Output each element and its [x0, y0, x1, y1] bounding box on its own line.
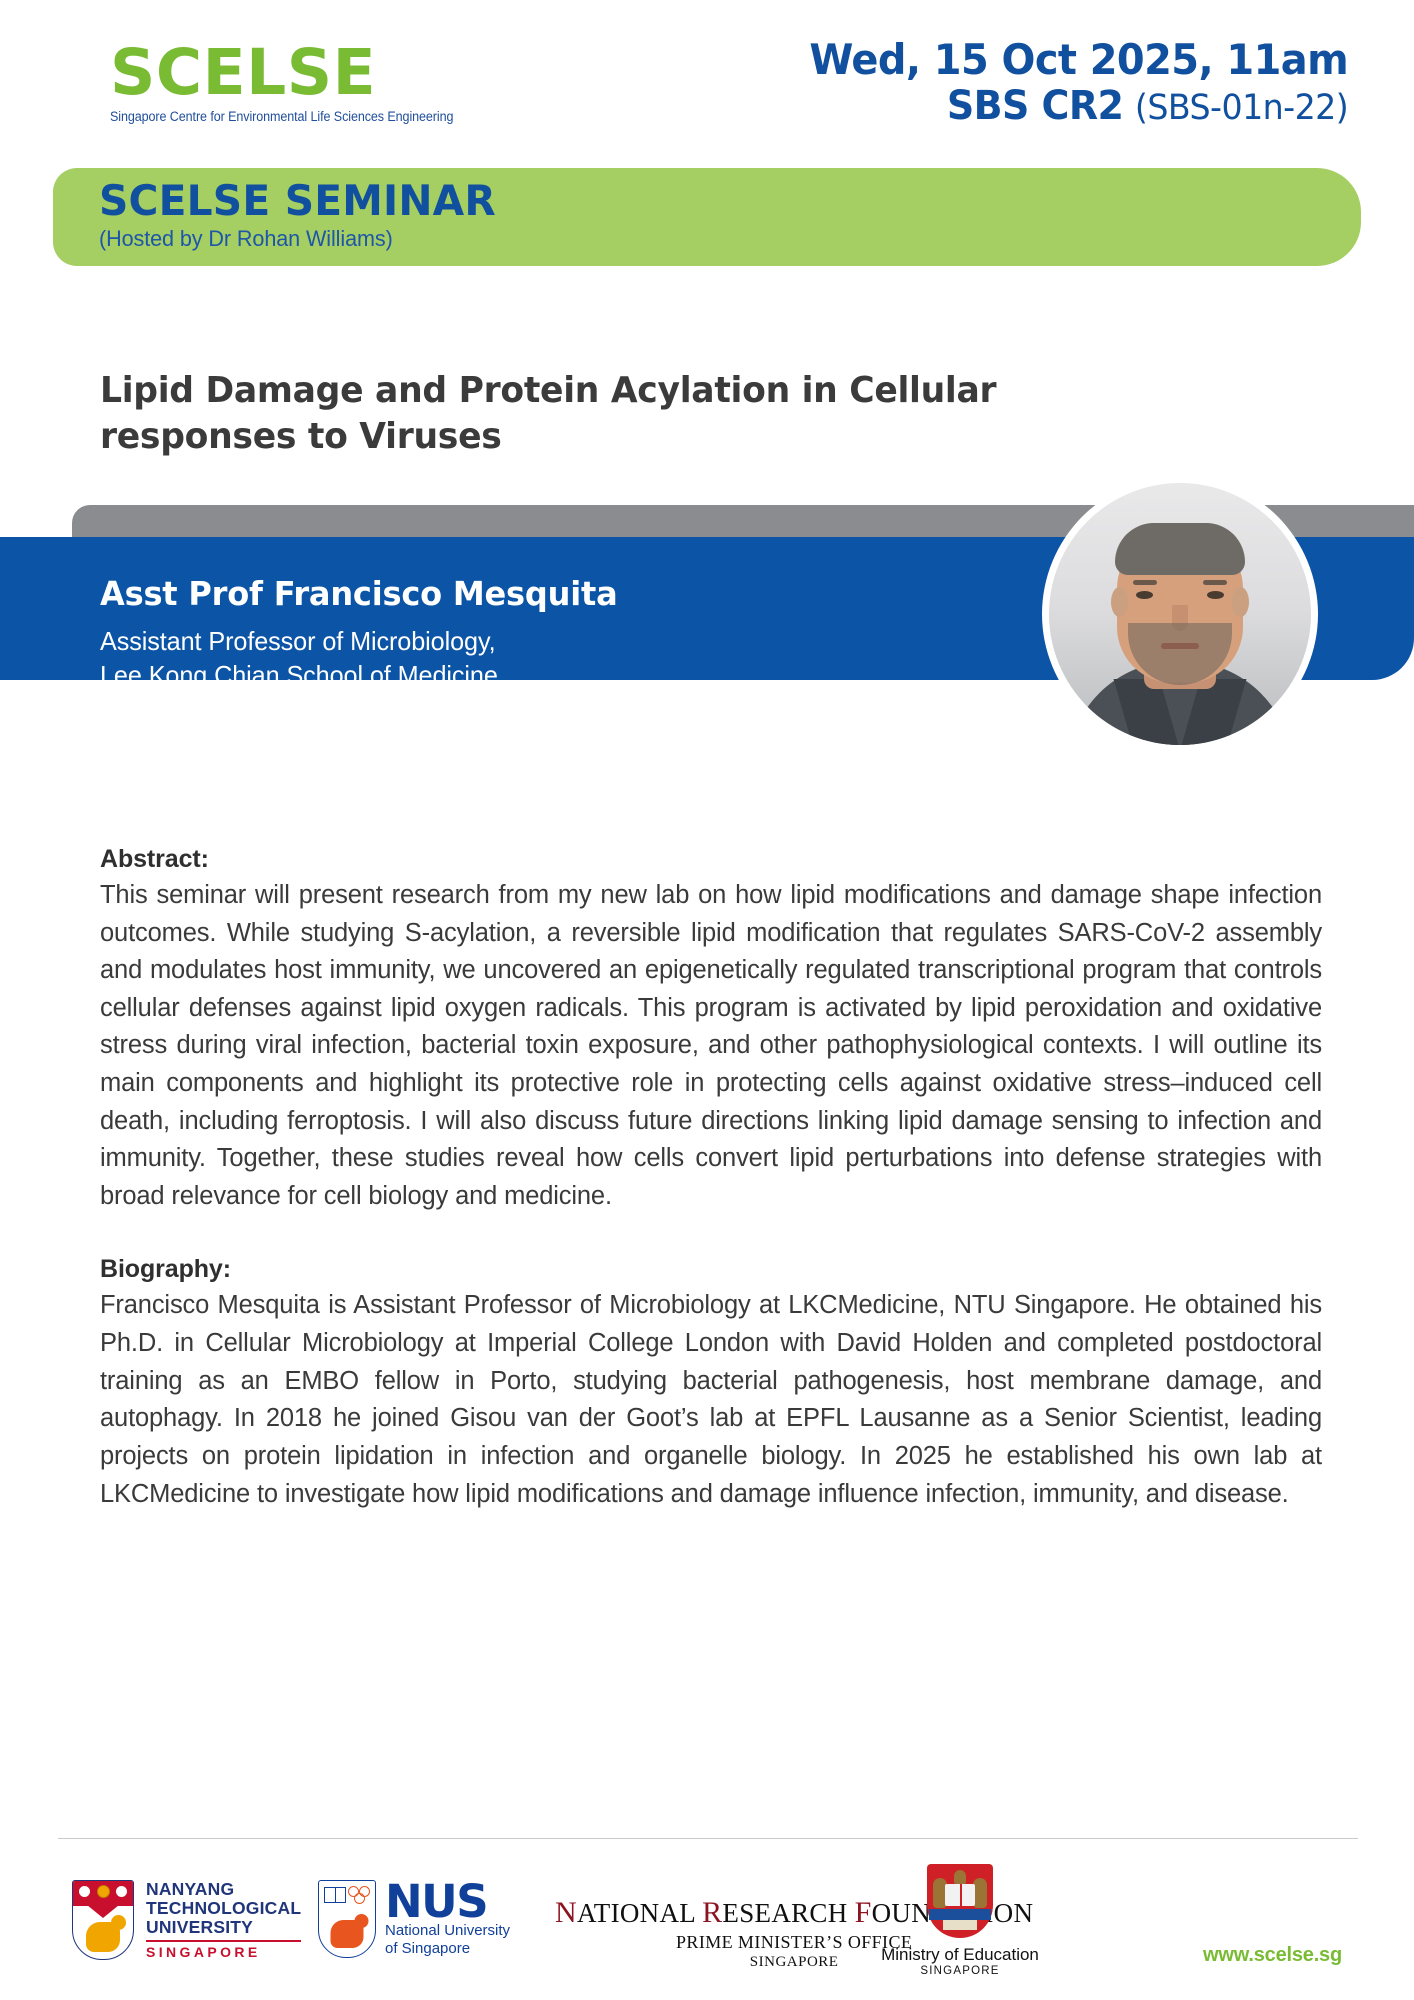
- nus-wordmark: NUS National University of Singapore: [385, 1881, 510, 1958]
- speaker-photo: [1049, 483, 1311, 745]
- ntu-rose-right: [115, 1885, 128, 1898]
- event-details: Wed, 15 Oct 2025, 11am SBS CR2 (SBS-01n-…: [781, 36, 1348, 130]
- portrait-eye-right: [1207, 591, 1224, 599]
- poster-header: SCELSE Singapore Centre for Environmenta…: [0, 0, 1414, 160]
- seminar-banner-title: SCELSE SEMINAR: [99, 177, 1323, 224]
- nus-shield: [318, 1880, 376, 1958]
- portrait-mouth: [1161, 643, 1199, 649]
- venue-room: SBS CR2: [947, 83, 1124, 129]
- ntu-rose-center: [97, 1885, 110, 1898]
- moe-crown-icon: [954, 1870, 966, 1884]
- scelse-logo-tagline: Singapore Centre for Environmental Life …: [110, 109, 482, 124]
- venue-code: (SBS-01n-22): [1135, 88, 1348, 128]
- nus-rings-icon: [348, 1886, 370, 1904]
- section-spacer: [100, 1215, 1322, 1255]
- nus-logo: NUS National University of Singapore: [318, 1880, 510, 1958]
- nrf-cap-r: R: [702, 1896, 722, 1929]
- moe-figure-right: [973, 1878, 987, 1908]
- speaker-name: Asst Prof Francisco Mesquita: [100, 574, 618, 614]
- moe-ribbon: [929, 1909, 991, 1920]
- scelse-logo: SCELSE Singapore Centre for Environmenta…: [110, 42, 510, 124]
- biography-text: Francisco Mesquita is Assistant Professo…: [100, 1287, 1322, 1513]
- moe-book-icon: [945, 1884, 975, 1906]
- speaker-photo-frame: [1042, 476, 1318, 752]
- nrf-cap-n: N: [555, 1896, 577, 1929]
- portrait-eye-left: [1136, 591, 1153, 599]
- speaker-affiliation-line-1: Assistant Professor of Microbiology,: [100, 624, 618, 658]
- ntu-shield: [72, 1880, 134, 1960]
- speaker-affiliation-line-2: Lee Kong Chian School of Medicine: [100, 658, 618, 692]
- portrait-eyebrow-left: [1133, 580, 1157, 585]
- ntu-lion-icon: [86, 1922, 120, 1952]
- moe-country: SINGAPORE: [880, 1965, 1040, 1977]
- event-venue: SBS CR2 (SBS-01n-22): [809, 83, 1348, 130]
- poster-footer: NANYANG TECHNOLOGICAL UNIVERSITY SINGAPO…: [0, 1858, 1414, 2000]
- talk-title: Lipid Damage and Protein Acylation in Ce…: [100, 368, 1118, 460]
- nus-book-icon: [324, 1887, 346, 1903]
- ntu-name-line-4: SINGAPORE: [146, 1940, 301, 1960]
- abstract-text: This seminar will present research from …: [100, 877, 1322, 1215]
- ntu-crest-icon: [72, 1880, 134, 1960]
- speaker-affiliation: Assistant Professor of Microbiology, Lee…: [100, 624, 618, 693]
- abstract-heading: Abstract:: [100, 845, 1322, 874]
- footer-divider: [58, 1838, 1358, 1839]
- scelse-logo-wordmark: SCELSE: [110, 42, 510, 104]
- nrf-word-national: ATIONAL: [577, 1898, 702, 1928]
- moe-name: Ministry of Education: [880, 1945, 1040, 1965]
- ntu-crest-roses: [73, 1885, 133, 1898]
- portrait-ear-right: [1232, 587, 1249, 617]
- biography-heading: Biography:: [100, 1255, 1322, 1284]
- seminar-poster: SCELSE Singapore Centre for Environmenta…: [0, 0, 1414, 2000]
- nus-acronym: NUS: [385, 1881, 510, 1922]
- ntu-name-line-2: TECHNOLOGICAL: [146, 1899, 301, 1918]
- ntu-logo: NANYANG TECHNOLOGICAL UNIVERSITY SINGAPO…: [72, 1880, 301, 1960]
- ntu-name-line-3: UNIVERSITY: [146, 1918, 301, 1937]
- ntu-name-line-1: NANYANG: [146, 1880, 301, 1899]
- seminar-banner: SCELSE SEMINAR (Hosted by Dr Rohan Willi…: [53, 168, 1361, 266]
- event-date: Wed, 15 Oct 2025, 11am: [809, 36, 1348, 83]
- ntu-rose-left: [78, 1885, 91, 1898]
- nus-subtitle-line-1: National University: [385, 1922, 510, 1940]
- moe-scroll: [943, 1920, 977, 1930]
- portrait-hair: [1115, 523, 1245, 575]
- nus-lion-icon: [331, 1920, 364, 1948]
- nrf-cap-f: F: [855, 1896, 872, 1929]
- nus-subtitle-line-2: of Singapore: [385, 1940, 510, 1958]
- ntu-wordmark: NANYANG TECHNOLOGICAL UNIVERSITY SINGAPO…: [146, 1880, 301, 1960]
- moe-logo: Ministry of Education SINGAPORE: [880, 1864, 1040, 1977]
- website-link[interactable]: www.scelse.sg: [1203, 1944, 1342, 1967]
- nrf-word-research: ESEARCH: [722, 1898, 854, 1928]
- nus-crest-icon: [318, 1880, 376, 1958]
- moe-crest-icon: [927, 1864, 993, 1938]
- speaker-details: Asst Prof Francisco Mesquita Assistant P…: [100, 574, 634, 692]
- portrait-eyebrow-right: [1203, 580, 1227, 585]
- poster-body: Abstract: This seminar will present rese…: [100, 845, 1322, 1513]
- portrait-ear-left: [1111, 587, 1128, 617]
- seminar-host-label: (Hosted by Dr Rohan Williams): [99, 226, 1311, 252]
